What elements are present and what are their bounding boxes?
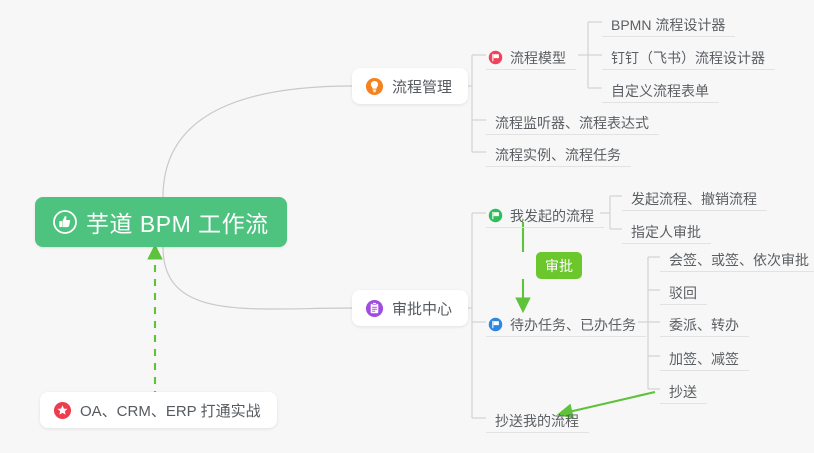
leaf-node[interactable]: 流程监听器、流程表达式 <box>486 106 659 135</box>
leaf-label: 钉钉（飞书）流程设计器 <box>611 50 765 66</box>
leaf-label: BPMN 流程设计器 <box>611 17 725 33</box>
root-label: 芋道 BPM 工作流 <box>86 205 269 239</box>
note-label: OA、CRM、ERP 打通实战 <box>80 400 261 421</box>
leaf-label: 指定人审批 <box>631 224 701 240</box>
leaf-node[interactable]: 发起流程、撤销流程 <box>622 182 767 211</box>
leaf-label: 发起流程、撤销流程 <box>631 191 757 207</box>
leaf-node[interactable]: 抄送 <box>660 375 707 404</box>
leaf-node[interactable]: 自定义流程表单 <box>602 74 719 103</box>
leaf-node[interactable]: BPMN 流程设计器 <box>602 8 735 37</box>
sub-node-todo-done-tasks[interactable]: 待办任务、已办任务 <box>486 308 646 337</box>
flag-green-icon <box>488 208 503 223</box>
leaf-node[interactable]: 会签、或签、依次审批 <box>660 243 814 272</box>
leaf-label: 抄送我的流程 <box>495 413 579 429</box>
approve-tag-label: 审批 <box>545 256 573 276</box>
flag-blue-icon <box>488 317 503 332</box>
leaf-label: 会签、或签、依次审批 <box>669 252 809 268</box>
sub-node-label: 待办任务、已办任务 <box>510 317 636 333</box>
leaf-label: 加签、减签 <box>669 351 739 367</box>
lightbulb-icon <box>365 77 384 96</box>
root-node[interactable]: 芋道 BPM 工作流 <box>35 197 287 247</box>
leaf-node[interactable]: 加签、减签 <box>660 342 749 371</box>
flag-red-icon <box>488 50 503 65</box>
sub-node-process-model[interactable]: 流程模型 <box>486 41 576 70</box>
approve-tag[interactable]: 审批 <box>536 252 582 279</box>
mindmap-canvas: 芋道 BPM 工作流 OA、CRM、ERP 打通实战 流程管理 <box>0 0 814 453</box>
leaf-label: 自定义流程表单 <box>611 83 709 99</box>
branch-node-process-management[interactable]: 流程管理 <box>352 68 468 104</box>
leaf-node[interactable]: 流程实例、流程任务 <box>486 138 631 167</box>
leaf-node-cc-my-process[interactable]: 抄送我的流程 <box>486 404 589 433</box>
clipboard-icon <box>365 299 384 318</box>
leaf-node[interactable]: 钉钉（飞书）流程设计器 <box>602 41 775 70</box>
leaf-label: 抄送 <box>669 384 697 400</box>
branch-node-approval-center[interactable]: 审批中心 <box>352 290 468 326</box>
star-icon <box>53 401 72 420</box>
leaf-label: 委派、转办 <box>669 317 739 333</box>
leaf-node[interactable]: 委派、转办 <box>660 308 749 337</box>
leaf-node[interactable]: 指定人审批 <box>622 215 711 244</box>
thumbs-up-icon <box>53 210 77 234</box>
branch-label: 流程管理 <box>392 76 452 97</box>
sub-node-label: 流程模型 <box>510 50 566 66</box>
note-node[interactable]: OA、CRM、ERP 打通实战 <box>40 392 277 428</box>
leaf-label: 流程实例、流程任务 <box>495 147 621 163</box>
sub-node-label: 我发起的流程 <box>510 208 594 224</box>
sub-node-my-initiated[interactable]: 我发起的流程 <box>486 199 604 228</box>
leaf-node[interactable]: 驳回 <box>660 276 707 305</box>
leaf-label: 流程监听器、流程表达式 <box>495 115 649 131</box>
branch-label: 审批中心 <box>392 298 452 319</box>
leaf-label: 驳回 <box>669 285 697 301</box>
